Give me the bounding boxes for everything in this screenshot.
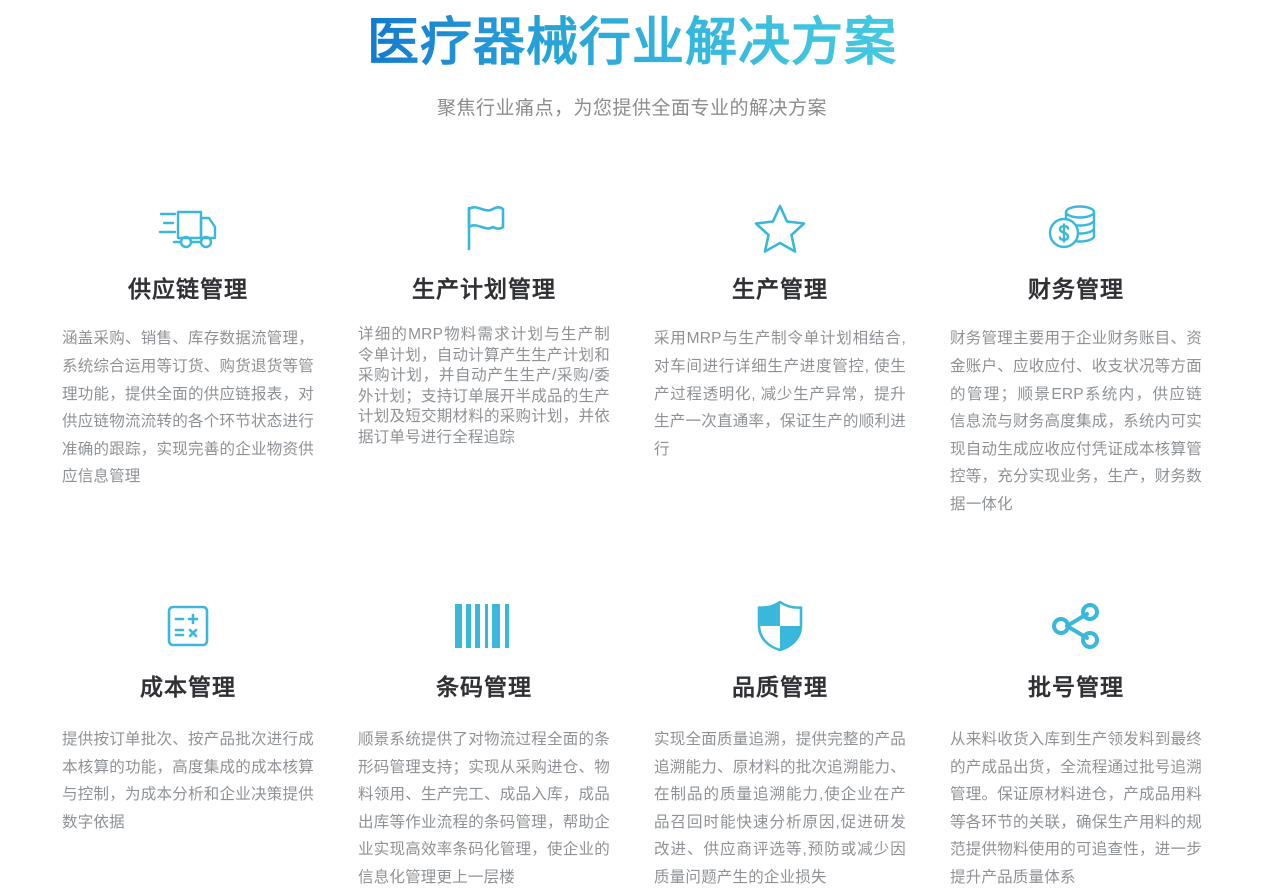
feature-card-production[interactable]: 生产管理 采用MRP与生产制令单计划相结合, 对车间进行详细生产进度管控, 使生… (632, 194, 928, 519)
card-title: 生产管理 (654, 276, 906, 304)
card-description: 从来料收货入库到生产领发料到最终的产成品出货，全流程通过批号追溯管理。保证原材料… (950, 726, 1202, 891)
page-subtitle: 聚焦行业痛点，为您提供全面专业的解决方案 (0, 93, 1264, 120)
calculator-icon (62, 592, 314, 660)
card-description: 涵盖采购、销售、库存数据流管理，系统综合运用等订货、购货退货等管理功能，提供全面… (62, 325, 314, 490)
solution-page: 医疗器械行业解决方案 聚焦行业痛点，为您提供全面专业的解决方案 供应链管理 (0, 0, 1264, 858)
card-description: 顺景系统提供了对物流过程全面的条形码管理支持；实现从采购进仓、物料领用、生产完工… (358, 726, 610, 891)
card-title: 品质管理 (654, 674, 906, 702)
card-description: 采用MRP与生产制令单计划相结合, 对车间进行详细生产进度管控, 使生产过程透明… (654, 325, 906, 463)
feature-card-barcode[interactable]: 条码管理 顺景系统提供了对物流过程全面的条形码管理支持；实现从采购进仓、物料领用… (336, 592, 632, 891)
card-title: 成本管理 (62, 674, 314, 702)
card-description: 提供按订单批次、按产品批次进行成本核算的功能，高度集成的成本核算与控制，为成本分… (62, 726, 314, 836)
feature-card-finance[interactable]: 财务管理 财务管理主要用于企业财务账目、资金账户、应收应付、收支状况等方面的管理… (928, 194, 1224, 519)
feature-card-quality[interactable]: 品质管理 实现全面质量追溯，提供完整的产品追溯能力、原材料的批次追溯能力、在制品… (632, 592, 928, 891)
feature-grid-row-2: 成本管理 提供按订单批次、按产品批次进行成本核算的功能，高度集成的成本核算与控制… (0, 592, 1264, 891)
delivery-truck-icon (62, 194, 314, 262)
card-description: 实现全面质量追溯，提供完整的产品追溯能力、原材料的批次追溯能力、在制品的质量追溯… (654, 726, 906, 891)
card-title: 财务管理 (950, 276, 1202, 304)
feature-grid-row-1: 供应链管理 涵盖采购、销售、库存数据流管理，系统综合运用等订货、购货退货等管理功… (0, 194, 1264, 519)
shield-icon (654, 592, 906, 660)
card-title: 批号管理 (950, 674, 1202, 702)
feature-card-production-plan[interactable]: 生产计划管理 详细的MRP物料需求计划与生产制令单计划，自动计算产生生产计划和采… (336, 194, 632, 519)
card-title: 供应链管理 (62, 276, 314, 304)
card-description: 详细的MRP物料需求计划与生产制令单计划，自动计算产生生产计划和采购计划，并自动… (358, 325, 610, 448)
card-description: 财务管理主要用于企业财务账目、资金账户、应收应付、收支状况等方面的管理；顺景ER… (950, 325, 1202, 518)
page-header: 医疗器械行业解决方案 聚焦行业痛点，为您提供全面专业的解决方案 (0, 0, 1264, 120)
share-nodes-icon (950, 592, 1202, 660)
feature-card-supply-chain[interactable]: 供应链管理 涵盖采购、销售、库存数据流管理，系统综合运用等订货、购货退货等管理功… (40, 194, 336, 519)
card-title: 条码管理 (358, 674, 610, 702)
page-title: 医疗器械行业解决方案 (367, 14, 897, 74)
flag-icon (358, 194, 610, 262)
barcode-icon (358, 592, 610, 660)
card-title: 生产计划管理 (358, 276, 610, 304)
star-icon (654, 194, 906, 262)
coins-dollar-icon (950, 194, 1202, 262)
feature-card-cost[interactable]: 成本管理 提供按订单批次、按产品批次进行成本核算的功能，高度集成的成本核算与控制… (40, 592, 336, 891)
feature-card-batch[interactable]: 批号管理 从来料收货入库到生产领发料到最终的产成品出货，全流程通过批号追溯管理。… (928, 592, 1224, 891)
